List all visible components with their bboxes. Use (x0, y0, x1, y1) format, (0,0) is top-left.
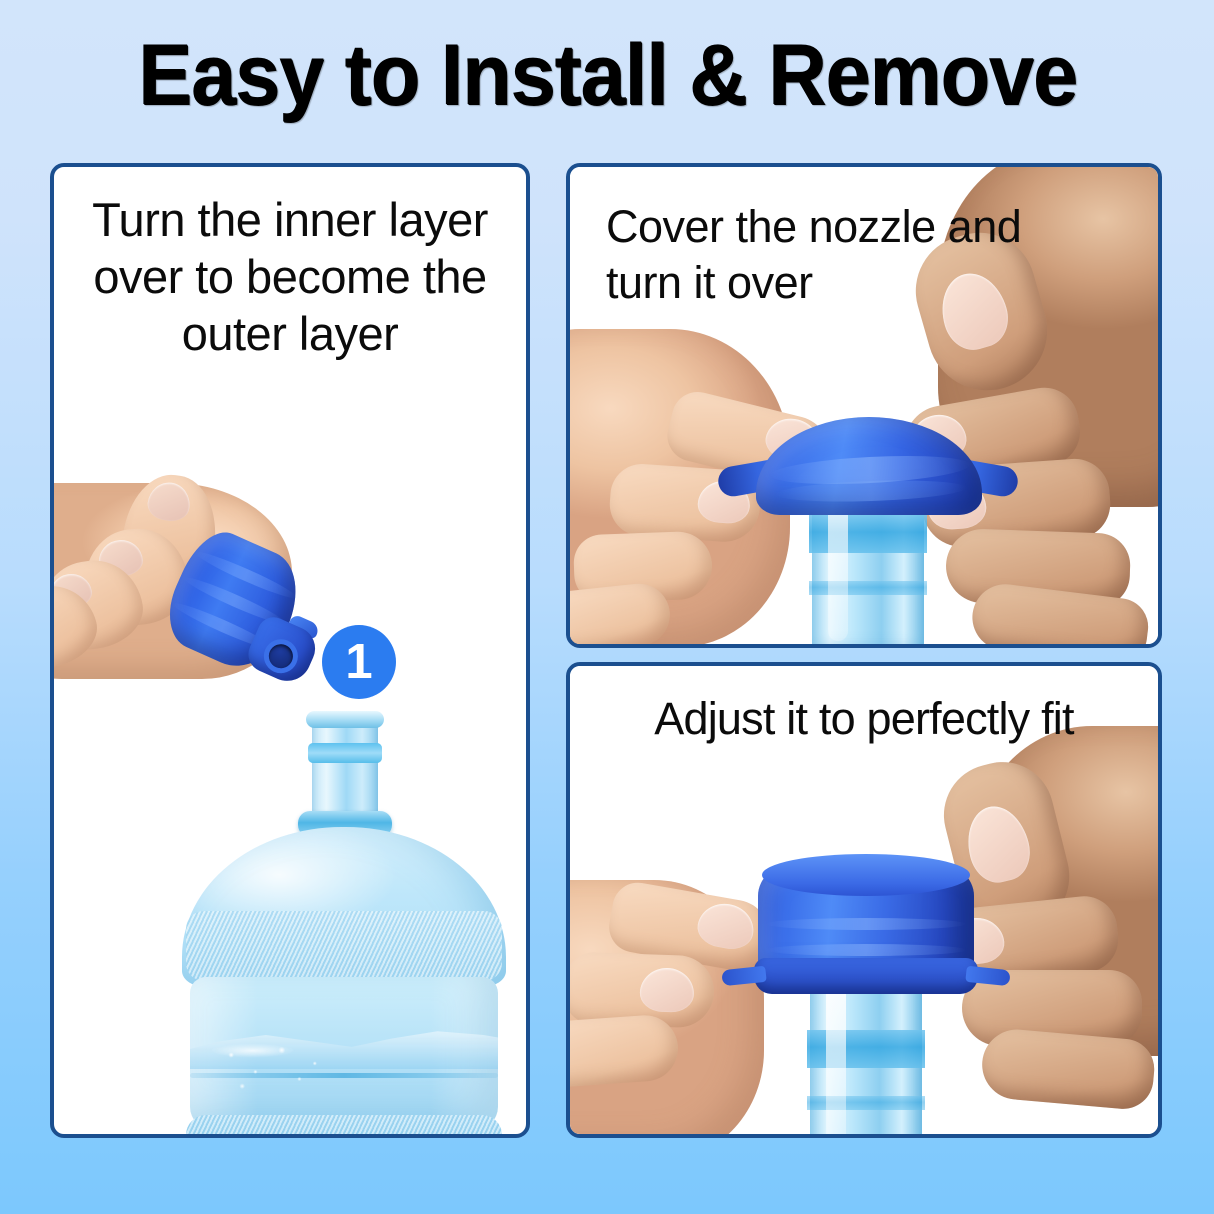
step-panel-1: Turn the inner layer over to become the … (50, 163, 530, 1138)
neck-band (807, 1030, 925, 1068)
silicone-cap-stretched (718, 417, 1018, 525)
step-2-photo (570, 167, 1158, 644)
bottle-body (190, 977, 498, 1129)
step-number-badge-1: 1 (322, 625, 396, 699)
right-ring-finger (979, 1027, 1156, 1112)
bottle-lip (306, 711, 384, 728)
step-3-photo (570, 666, 1158, 1134)
page-title: Easy to Install & Remove (138, 32, 1077, 118)
step-panel-3: Adjust it to perfectly fit 3 (566, 662, 1162, 1138)
bottle-neck-ring (308, 743, 382, 763)
silicone-cap-seated (716, 862, 1016, 1012)
water-bubbles (218, 1037, 328, 1097)
bottle-neck (312, 715, 378, 819)
cap-groove (766, 918, 966, 930)
neck-band (807, 1096, 925, 1110)
bottle-textured-band-upper (186, 911, 502, 981)
bottle-textured-band-lower (186, 1115, 502, 1138)
cap-top (762, 854, 970, 896)
cap-skirt (754, 958, 978, 994)
fingernail (146, 480, 193, 523)
cap-groove (766, 944, 966, 956)
step-1-photo (54, 167, 526, 1134)
title-bar: Easy to Install & Remove (0, 0, 1214, 150)
left-pinky-finger (566, 581, 673, 648)
neck-band (809, 581, 927, 595)
step-panel-2: Cover the nozzle and turn it over 2 (566, 163, 1162, 648)
water-bottle (174, 715, 514, 1138)
